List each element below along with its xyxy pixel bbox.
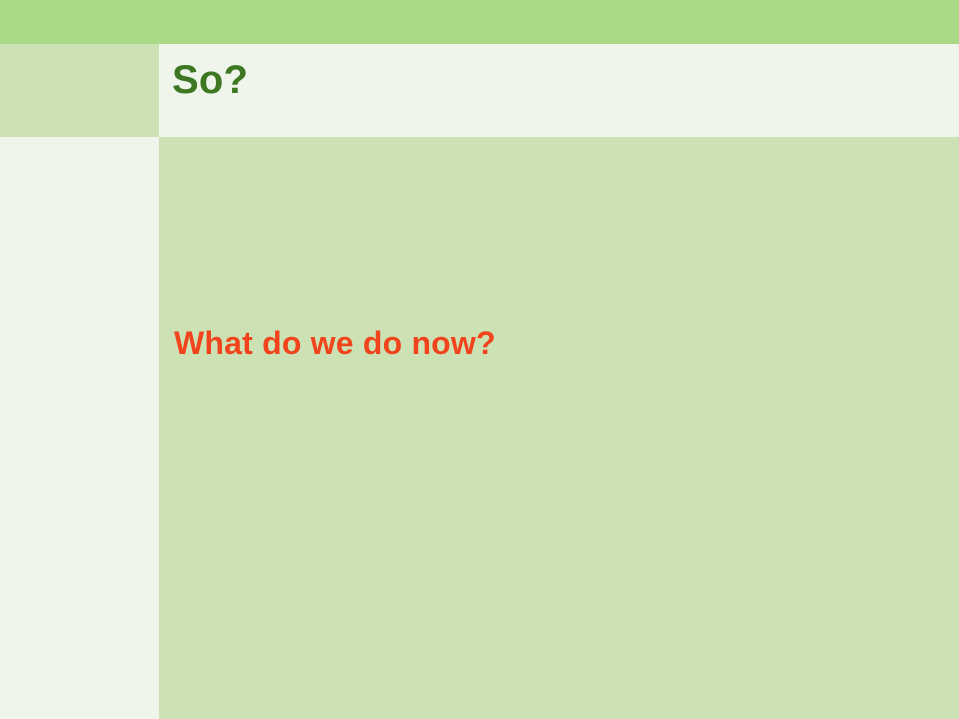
- slide-body-text: What do we do now?: [174, 323, 496, 363]
- title-row-right-block: So?: [159, 44, 959, 137]
- presentation-slide: So? What do we do now?: [0, 0, 959, 719]
- slide-title: So?: [172, 56, 248, 104]
- body-left-margin-column: [0, 137, 159, 719]
- body-row: What do we do now?: [0, 137, 959, 719]
- title-row: So?: [0, 44, 959, 137]
- title-row-left-block: [0, 44, 159, 137]
- slide-content-panel: What do we do now?: [159, 137, 959, 719]
- top-accent-band: [0, 0, 959, 44]
